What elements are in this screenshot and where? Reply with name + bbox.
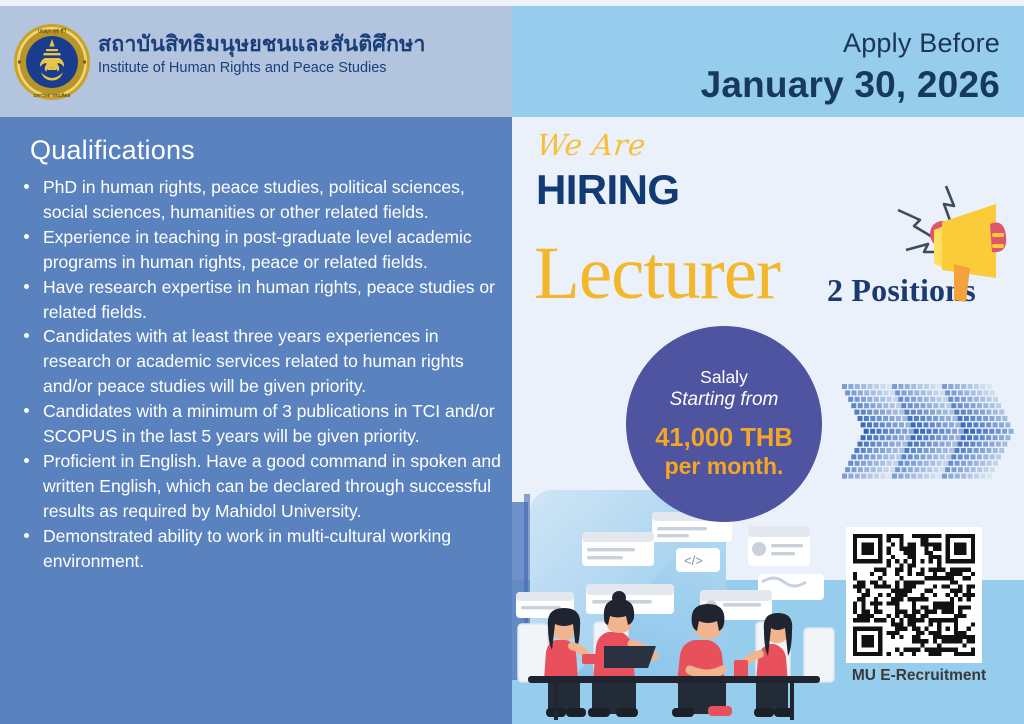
institute-header: ปญฺญา สุขํ ชีวี มหาวิทยาลัยมหิดล สถาบันส… <box>0 6 512 117</box>
svg-text:</>: </> <box>684 553 703 568</box>
list-item: Demonstrated ability to work in multi-cu… <box>16 524 506 574</box>
megaphone-icon <box>884 178 1012 308</box>
qualification-text: Proficient in English. Have a good comma… <box>43 451 501 521</box>
right-column: Apply Before January 30, 2026 <box>512 0 1024 724</box>
qualifications-panel: Qualifications PhD in human rights, peac… <box>0 117 512 724</box>
salary-amount: 41,000 THB <box>655 424 793 453</box>
qualification-text: Have research expertise in human rights,… <box>43 277 495 322</box>
qualification-text: PhD in human rights, peace studies, poli… <box>43 177 465 222</box>
salary-badge: Salaly Starting from 41,000 THB per mont… <box>626 326 822 522</box>
bullet-icon <box>24 284 29 289</box>
position-title: Lecturer <box>534 236 780 311</box>
institute-name-block: สถาบันสิทธิมนุษยชนและสันติศึกษา Institut… <box>98 32 498 78</box>
bullet-icon <box>24 533 29 538</box>
list-item: Have research expertise in human rights,… <box>16 275 506 325</box>
recruitment-poster: ปญฺญา สุขํ ชีวี มหาวิทยาลัยมหิดล สถาบันส… <box>0 0 1024 724</box>
apply-deadline-band: Apply Before January 30, 2026 <box>512 6 1024 117</box>
list-item: Candidates with at least three years exp… <box>16 324 506 399</box>
bullet-icon <box>24 333 29 338</box>
list-item: Experience in teaching in post-graduate … <box>16 225 506 275</box>
qr-code-icon[interactable] <box>846 527 982 663</box>
list-item: Candidates with a minimum of 3 publicati… <box>16 399 506 449</box>
bullet-icon <box>24 458 29 463</box>
institute-name-thai: สถาบันสิทธิมนุษยชนและสันติศึกษา <box>98 32 498 57</box>
hiring-headline: HIRING <box>536 166 679 214</box>
top-edge-strip <box>0 0 1024 6</box>
bullet-icon <box>24 234 29 239</box>
salary-label: Salaly <box>700 368 748 388</box>
bullet-icon <box>24 408 29 413</box>
qr-caption: MU E-Recruitment <box>834 667 1004 685</box>
apply-deadline-date: January 30, 2026 <box>701 64 1000 106</box>
bullet-icon <box>24 184 29 189</box>
qualification-text: Candidates with a minimum of 3 publicati… <box>43 401 495 446</box>
qualifications-list: PhD in human rights, peace studies, poli… <box>16 175 506 574</box>
qualification-text: Candidates with at least three years exp… <box>43 326 464 396</box>
salary-sub-label: Starting from <box>670 388 779 413</box>
list-item: PhD in human rights, peace studies, poli… <box>16 175 506 225</box>
dotted-chevrons-icon <box>842 384 1022 480</box>
qualification-text: Demonstrated ability to work in multi-cu… <box>43 526 451 571</box>
qualification-text: Experience in teaching in post-graduate … <box>43 227 472 272</box>
svg-text:ปญฺญา สุขํ ชีวี: ปญฺญา สุขํ ชีวี <box>38 28 67 35</box>
apply-before-label: Apply Before <box>843 28 1000 59</box>
we-are-script-label: We Are <box>535 128 647 162</box>
salary-period: per month. <box>665 453 784 481</box>
list-item: Proficient in English. Have a good comma… <box>16 449 506 524</box>
left-column: ปญฺญา สุขํ ชีวี มหาวิทยาลัยมหิดล สถาบันส… <box>0 0 512 724</box>
mahidol-university-seal-icon: ปญฺญา สุขํ ชีวี มหาวิทยาลัยมหิดล <box>12 22 92 102</box>
institute-name-english: Institute of Human Rights and Peace Stud… <box>98 59 498 78</box>
qualifications-title: Qualifications <box>30 135 195 166</box>
svg-text:มหาวิทยาลัยมหิดล: มหาวิทยาลัยมหิดล <box>34 92 71 99</box>
